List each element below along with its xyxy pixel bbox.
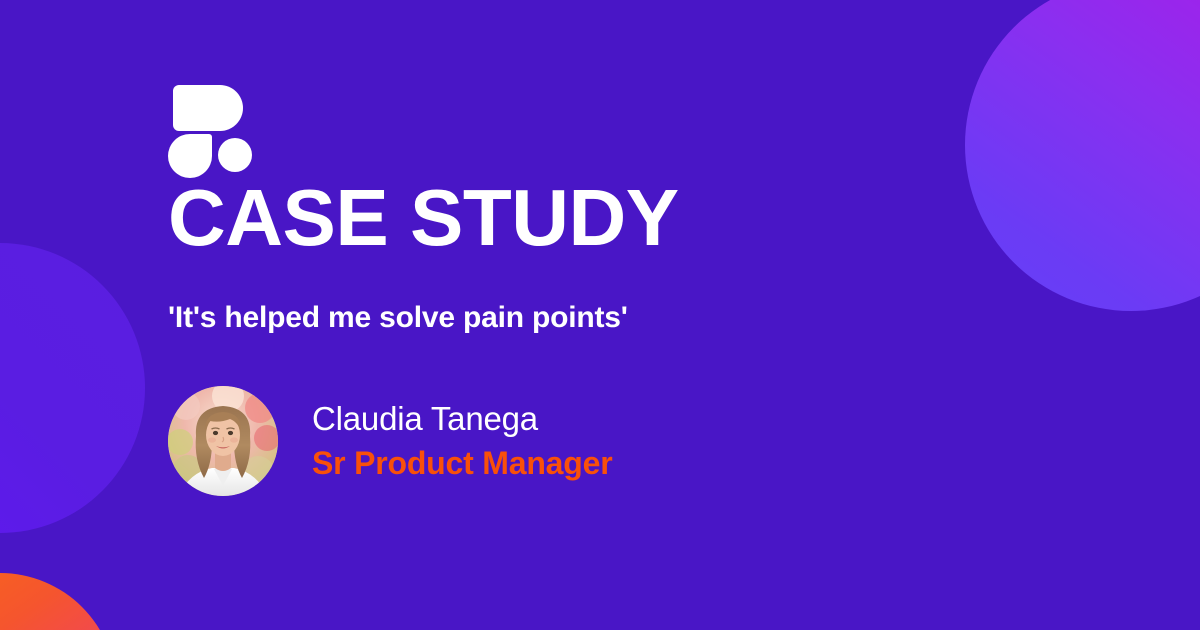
logo-bar-shape <box>173 85 243 131</box>
left-accent-circle <box>0 243 145 533</box>
logo-drop-shape <box>168 134 212 178</box>
page-title: CASE STUDY <box>168 178 679 258</box>
quote-subtitle: 'It's helped me solve pain points' <box>168 300 628 336</box>
person-name: Claudia Tanega <box>312 397 612 442</box>
person-role: Sr Product Manager <box>312 442 612 485</box>
brand-logo-icon <box>168 85 244 161</box>
logo-dot-shape <box>218 138 252 172</box>
person-text: Claudia Tanega Sr Product Manager <box>312 397 612 485</box>
person-attribution: Claudia Tanega Sr Product Manager <box>168 386 612 496</box>
bottom-left-gradient-circle <box>0 573 116 630</box>
case-study-card: CASE STUDY 'It's helped me solve pain po… <box>0 0 1200 630</box>
card-content: CASE STUDY 'It's helped me solve pain po… <box>168 0 1068 630</box>
avatar <box>168 386 278 496</box>
